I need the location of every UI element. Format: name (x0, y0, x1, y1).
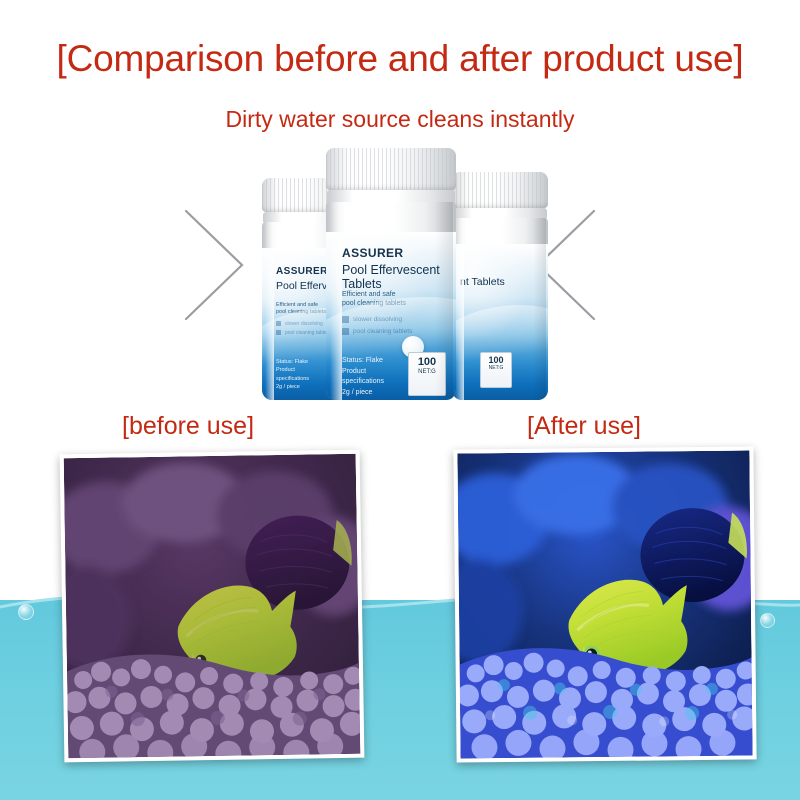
photo-before-inner (64, 454, 361, 759)
product-bottle-center: ASSURER Pool Effervescent Tablets Effici… (326, 148, 456, 400)
bubble-icon (18, 604, 34, 620)
bottle-tagline: Efficient and safe pool cleaning tablets (342, 290, 406, 309)
checkbox-icon (342, 316, 349, 323)
bottle-cap (452, 172, 548, 208)
bottle-product-name: Pool Effervescent Tablets (342, 263, 456, 291)
bottle-label: nt Tablets 100 NET:G (452, 244, 548, 400)
photo-before-use (60, 450, 365, 763)
product-bottle-right: nt Tablets 100 NET:G (452, 172, 548, 400)
bottle-footer-left: Status: Flake Product specifications 2g … (276, 358, 309, 391)
bottle-cap (326, 148, 456, 190)
bottle-product-name-left: Pool Efferv (276, 280, 327, 292)
bottle-tagline-left: Efficient and safe pool cleaning tablets (276, 302, 326, 317)
caption-before: [before use] (122, 412, 254, 441)
page-title: [Comparison before and after product use… (0, 38, 800, 80)
list-item: pool cleaning tablets (342, 326, 412, 338)
bottle-body: ASSURER Pool Effervescent Tablets Effici… (326, 202, 456, 400)
bottle-brand: ASSURER (342, 246, 403, 260)
bubble-icon (760, 613, 775, 628)
list-item: slower dissolving (342, 314, 412, 326)
bottle-specs: Status: Flake Product specifications 2g … (342, 356, 384, 398)
net-weight-badge: 100 NET:G (408, 352, 446, 396)
photo-after-inner (457, 450, 752, 758)
checkbox-icon (342, 328, 349, 335)
bottle-brand-left: ASSURER (276, 266, 328, 277)
product-comparison-page: [Comparison before and after product use… (0, 0, 800, 800)
reef-scene-before (64, 454, 361, 759)
bottle-feature-list: slower dissolving pool cleaning tablets (342, 314, 412, 338)
photo-after-use (453, 446, 756, 762)
bottle-product-name-right: nt Tablets (460, 276, 505, 288)
bottle-label: ASSURER Pool Effervescent Tablets Effici… (326, 232, 456, 400)
caption-after: [After use] (527, 412, 641, 441)
bottle-bullets-left: slower dissolving pool cleaning tablets (276, 320, 331, 339)
chevron-right-icon (180, 205, 250, 325)
reef-scene-after (457, 450, 752, 758)
net-weight-badge-right: 100 NET:G (480, 352, 512, 388)
bottle-body: nt Tablets 100 NET:G (452, 218, 548, 400)
list-item: slower dissolving (276, 320, 331, 329)
page-subtitle: Dirty water source cleans instantly (0, 106, 800, 133)
list-item: pool cleaning tablets (276, 329, 331, 338)
